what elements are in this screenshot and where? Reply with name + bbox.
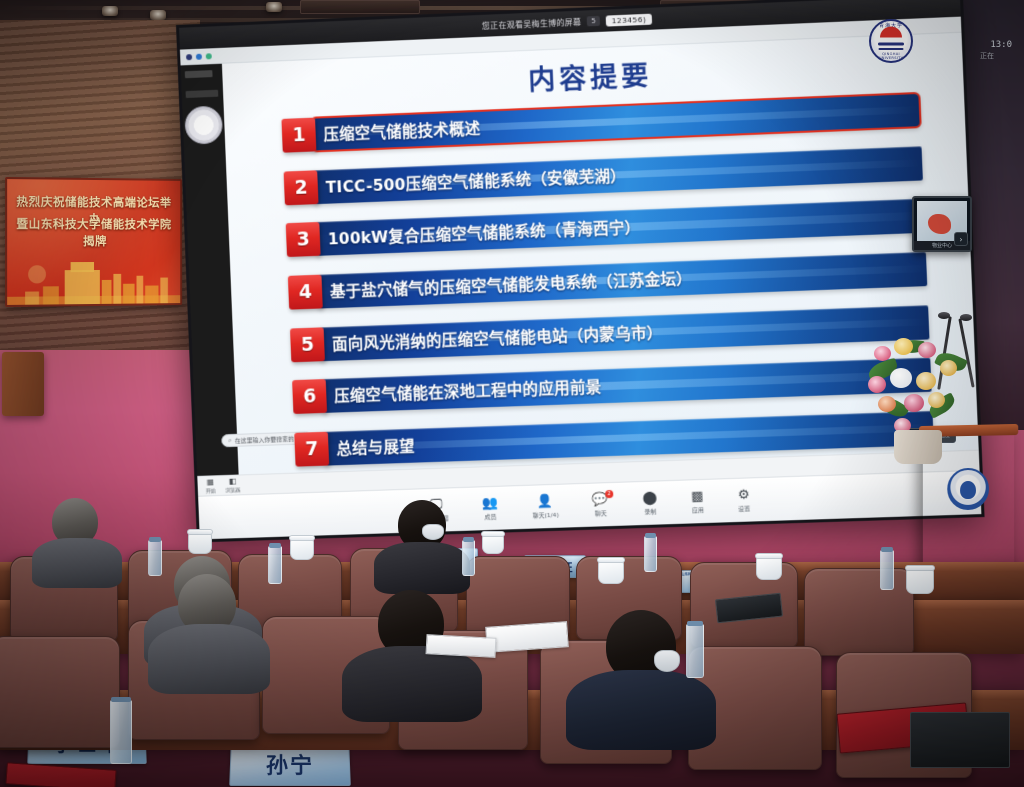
chair	[0, 636, 120, 748]
banner-skyline-graphic	[7, 258, 180, 305]
person-shoulders	[342, 646, 482, 722]
wall-clock: 13:0	[990, 40, 1012, 50]
rail-seal-icon	[184, 105, 223, 144]
slide-item-label: 面向风光消纳的压缩空气储能电站（内蒙乌市）	[320, 321, 663, 355]
tea-cup	[290, 538, 314, 560]
rail-tag-2	[186, 90, 219, 98]
audience-member	[378, 500, 466, 586]
audience-member	[34, 498, 120, 582]
water-bottle	[462, 540, 475, 576]
search-icon: ⌕	[228, 437, 232, 445]
tea-cup	[598, 560, 624, 584]
university-seal-icon: 青海大学 QINGHAI UNIVERSITY	[869, 19, 913, 63]
podium-emblem-icon	[947, 468, 989, 510]
seal-wave-shape	[878, 43, 904, 46]
tea-cup	[188, 532, 212, 554]
control-participants[interactable]: 👥 成员	[482, 496, 499, 520]
slide-item-3[interactable]: 3 100kW复合压缩空气储能系统（青海西宁）	[286, 199, 925, 257]
slide-item-label: 压缩空气储能在深地工程中的应用前景	[322, 376, 602, 408]
slide-item-number: 1	[281, 118, 316, 153]
microphone-head-icon	[938, 312, 950, 319]
conference-hall-scene: 13:0 正在 热烈庆祝储能技术高端论坛举办 暨山东科技大学储能技术学院揭牌	[0, 0, 1024, 787]
browser-icon: ◧	[229, 477, 237, 485]
water-bottle	[644, 536, 657, 572]
slide-item-bar: 100kW复合压缩空气储能系统（青海西宁）	[315, 199, 925, 256]
slide-item-4[interactable]: 4 基于盐穴储气的压缩空气储能发电系统（江苏金坛）	[288, 252, 927, 310]
slide-item-6[interactable]: 6 压缩空气储能在深地工程中的应用前景	[292, 358, 932, 414]
flower	[894, 338, 913, 355]
flower	[928, 392, 945, 408]
control-label: 聊天	[595, 508, 607, 517]
slide-item-bar: 面向风光消纳的压缩空气储能电站（内蒙乌市）	[320, 305, 930, 361]
flower	[916, 372, 936, 390]
meeting-id: 123456)	[605, 13, 652, 26]
flower-vase	[894, 430, 942, 464]
settings-gear-icon: ⚙	[738, 488, 750, 501]
banner-line-2: 暨山东科技大学储能技术学院揭牌	[13, 216, 174, 251]
ceiling-vent	[300, 0, 420, 14]
ceiling-spotlight	[266, 2, 282, 12]
water-bottle	[148, 540, 162, 576]
face-mask	[422, 524, 444, 540]
audience-member	[156, 574, 260, 682]
taskbar-browser-button[interactable]: ◧ 浏览器	[225, 477, 240, 493]
control-label: 成员	[484, 511, 496, 520]
close-dot-icon[interactable]	[186, 54, 192, 60]
slide-item-label: 基于盐穴储气的压缩空气储能发电系统（江苏金坛）	[318, 267, 693, 303]
slide-item-label: 总结与展望	[324, 435, 415, 460]
control-label: 应用	[692, 505, 704, 514]
slide-item-2[interactable]: 2 TICC-500压缩空气储能系统（安徽芜湖）	[284, 146, 923, 205]
shared-app-window: 内容提要 1 压缩空气储能技术概述 2	[180, 17, 980, 496]
tea-cup	[906, 568, 934, 594]
ceiling-spotlight	[102, 6, 118, 16]
slide-item-label: 压缩空气储能技术概述	[311, 117, 481, 146]
slide-item-number: 3	[286, 222, 321, 257]
map-region-shape	[928, 214, 951, 234]
tea-cup	[756, 556, 782, 580]
taskbar-start-button[interactable]: ▦ 开始	[205, 478, 216, 494]
tea-cup	[482, 534, 504, 554]
participants-icon: 👥	[482, 496, 499, 509]
person-shoulders	[374, 542, 470, 594]
window-body: 内容提要 1 压缩空气储能技术概述 2	[181, 33, 980, 496]
flower	[940, 360, 957, 376]
flower	[918, 342, 936, 358]
slide-item-number: 5	[290, 327, 325, 362]
record-icon: ⬤	[642, 491, 657, 504]
flower	[904, 394, 924, 412]
taskbar-item-label: 开始	[206, 487, 216, 494]
person-shoulders	[32, 538, 122, 588]
slide-item-number: 2	[284, 170, 319, 205]
side-monitor-next-button[interactable]: ›	[954, 232, 968, 246]
control-label: 设置	[738, 503, 750, 512]
flower	[868, 376, 886, 393]
document-paper	[426, 634, 497, 658]
control-apps[interactable]: ▩ 应用	[691, 489, 704, 513]
control-settings[interactable]: ⚙ 设置	[737, 488, 750, 512]
taskbar-item-label: 浏览器	[225, 486, 240, 493]
flower	[890, 368, 912, 388]
event-banner: 热烈庆祝储能技术高端论坛举办 暨山东科技大学储能技术学院揭牌	[5, 177, 182, 307]
control-chat[interactable]: 💬 2 聊天	[592, 493, 609, 518]
wall-note: 正在	[980, 52, 1020, 61]
slide-item-bar: 压缩空气储能在深地工程中的应用前景	[322, 358, 932, 413]
chat-badge: 2	[605, 489, 613, 497]
control-label: 聊天(1/4)	[532, 509, 559, 519]
flower	[878, 396, 896, 412]
control-record[interactable]: ⬤ 录制	[642, 491, 658, 515]
slide-item-list: 1 压缩空气储能技术概述 2 TICC-500压缩空气储能系统（安徽芜湖）	[281, 93, 933, 467]
control-label: 录制	[644, 506, 656, 515]
slide-item-label: 100kW复合压缩空气储能系统（青海西宁）	[316, 216, 641, 250]
windows-start-icon: ▦	[206, 478, 214, 486]
maximize-dot-icon[interactable]	[206, 53, 212, 59]
nameplate-name: 孙宁	[266, 748, 314, 780]
flower-bouquet	[864, 336, 976, 458]
slide-item-number: 7	[294, 432, 329, 467]
red-folder	[5, 762, 116, 787]
rail-tag-1	[185, 70, 213, 78]
apps-icon: ▩	[691, 489, 704, 502]
flower	[874, 346, 891, 361]
university-en-name: QINGHAI UNIVERSITY	[871, 52, 911, 60]
control-members[interactable]: 👤 聊天(1/4)	[532, 494, 559, 519]
slide-item-bar: 基于盐穴储气的压缩空气储能发电系统（江苏金坛）	[317, 252, 927, 309]
side-lectern	[2, 352, 44, 416]
water-bottle	[110, 700, 132, 764]
slide-item-number: 4	[288, 275, 323, 310]
slide-item-number: 6	[292, 379, 327, 414]
chair	[804, 568, 914, 656]
minimize-dot-icon[interactable]	[196, 53, 202, 59]
laptop[interactable]	[910, 712, 1010, 768]
university-logo: 青海大学 QINGHAI UNIVERSITY	[862, 18, 920, 64]
face-mask	[654, 650, 680, 672]
person-shoulders	[148, 624, 270, 694]
person-shoulders	[566, 670, 716, 750]
ceiling-spotlight	[150, 10, 166, 20]
slide-item-label: TICC-500压缩空气储能系统（安徽芜湖）	[313, 164, 626, 198]
water-bottle	[880, 550, 894, 590]
slide-item-5[interactable]: 5 面向风光消纳的压缩空气储能电站（内蒙乌市）	[290, 305, 930, 362]
slide-item-bar: TICC-500压缩空气储能系统（安徽芜湖）	[313, 146, 923, 204]
meeting-status-text: 您正在观看吴梅生博的屏幕	[482, 16, 582, 31]
member-icon: 👤	[537, 494, 554, 508]
microphone-head-icon	[960, 314, 972, 321]
projection-screen: 您正在观看吴梅生博的屏幕 5 123456)	[176, 0, 985, 542]
water-bottle	[268, 546, 282, 584]
meeting-pill[interactable]: 5	[587, 16, 600, 27]
water-bottle	[686, 624, 704, 678]
